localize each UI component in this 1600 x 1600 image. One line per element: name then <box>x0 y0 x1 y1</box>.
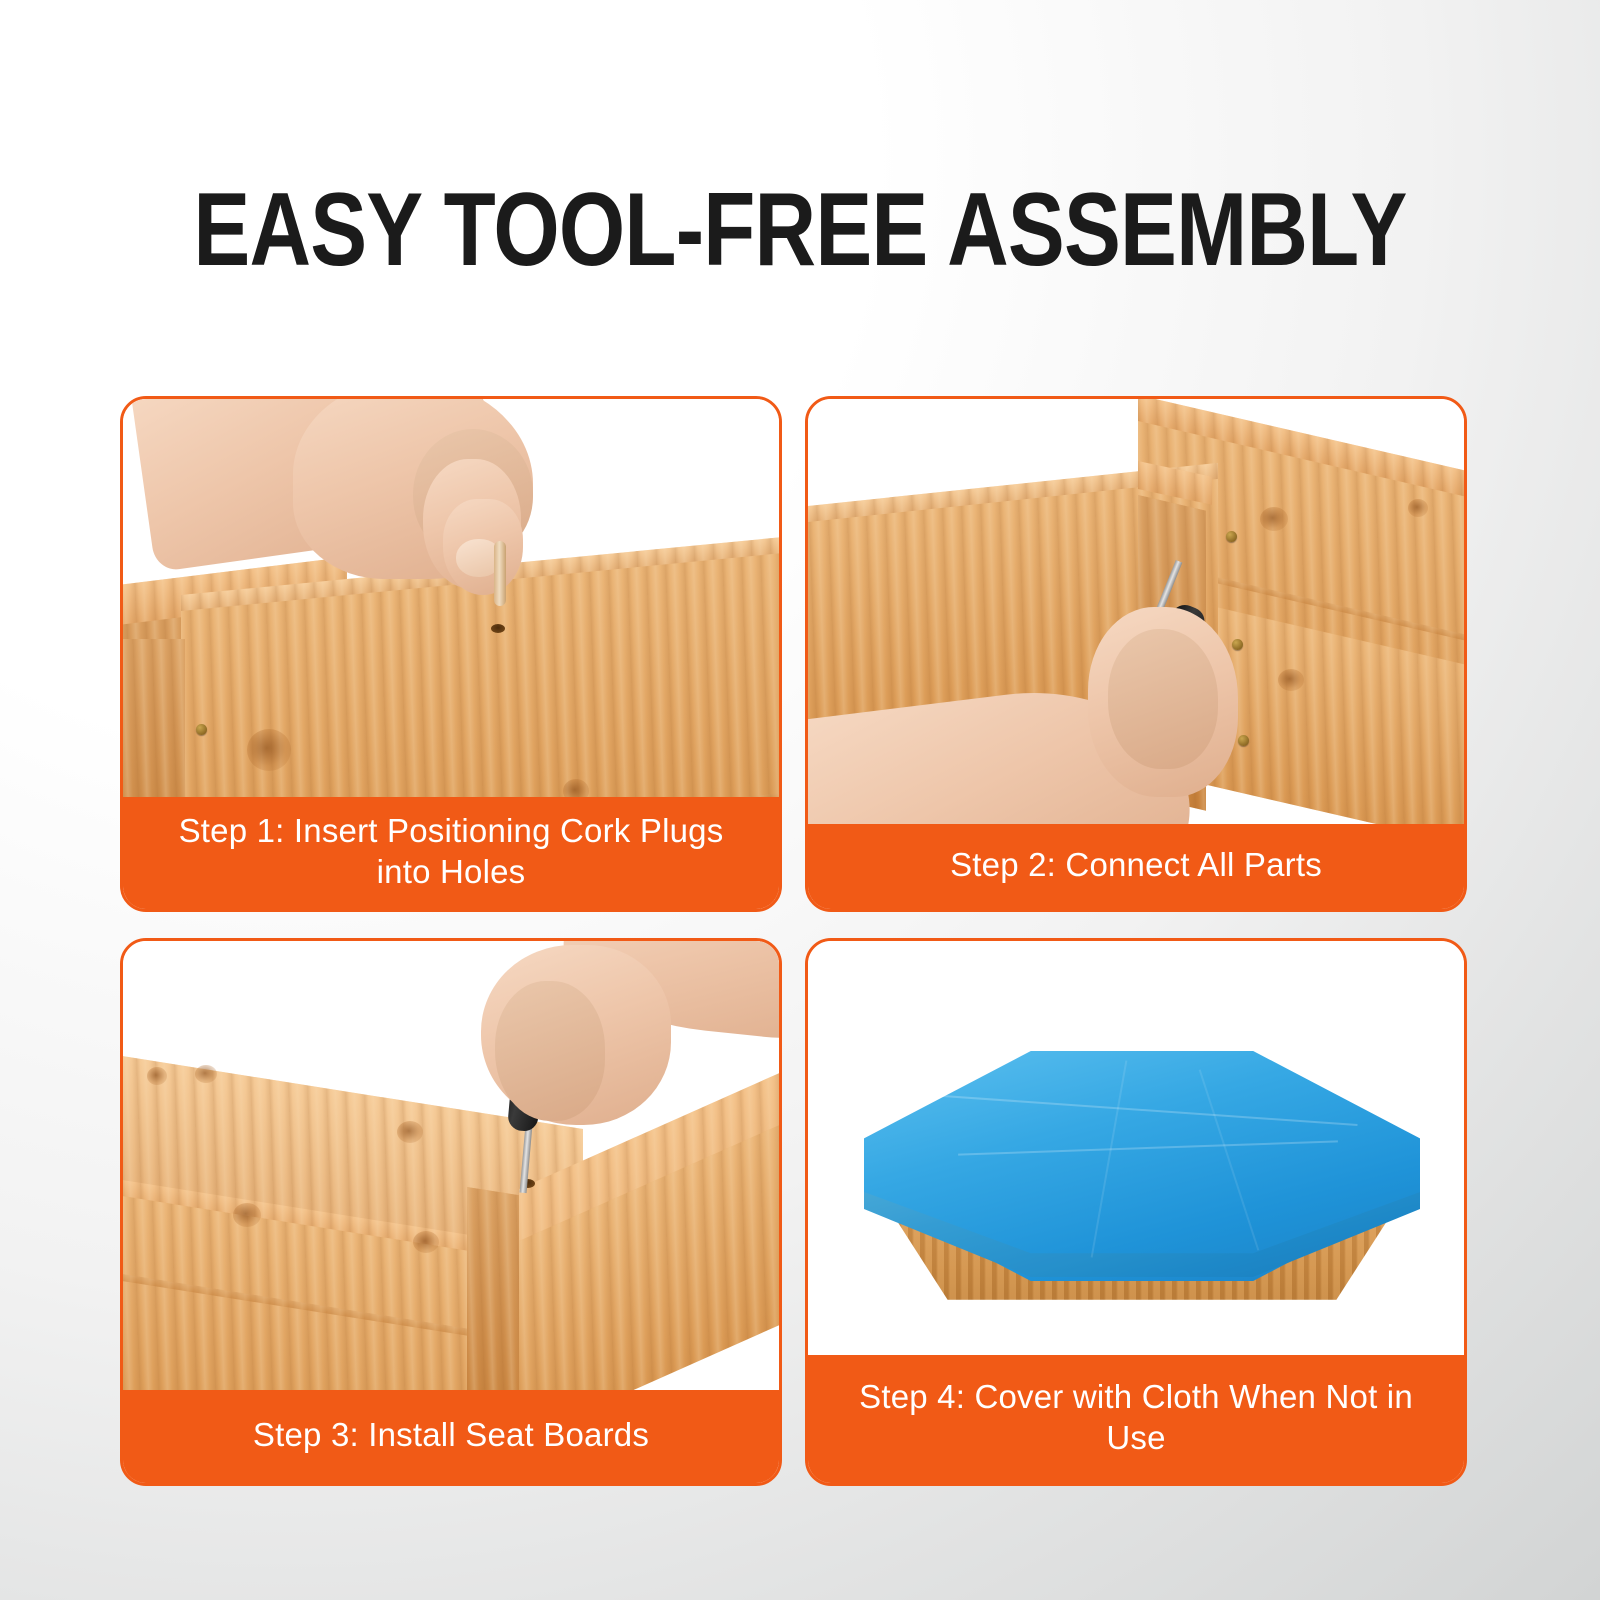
cork-plug <box>494 541 506 606</box>
screw-head <box>196 724 207 735</box>
step-card-1[interactable]: Step 1: Insert Positioning Cork Plugs in… <box>120 396 782 912</box>
page-title: EASY TOOL-FREE ASSEMBLY <box>144 178 1456 282</box>
step-card-2[interactable]: Step 2: Connect All Parts <box>805 396 1467 912</box>
cork-hole <box>491 624 505 633</box>
step-card-3[interactable]: Step 3: Install Seat Boards <box>120 938 782 1486</box>
steps-grid: Step 1: Insert Positioning Cork Plugs in… <box>120 396 1467 1486</box>
step-3-photo <box>123 941 779 1390</box>
step-4-caption: Step 4: Cover with Cloth When Not in Use <box>808 1355 1464 1483</box>
step-3-caption: Step 3: Install Seat Boards <box>123 1390 779 1483</box>
step-1-caption: Step 1: Insert Positioning Cork Plugs in… <box>123 797 779 909</box>
step-2-caption: Step 2: Connect All Parts <box>808 824 1464 909</box>
step-4-photo <box>808 941 1464 1355</box>
product-infographic: EASY TOOL-FREE ASSEMBLY <box>0 0 1600 1600</box>
step-1-photo <box>123 399 779 797</box>
step-2-photo <box>808 399 1464 824</box>
step-card-4[interactable]: Step 4: Cover with Cloth When Not in Use <box>805 938 1467 1486</box>
